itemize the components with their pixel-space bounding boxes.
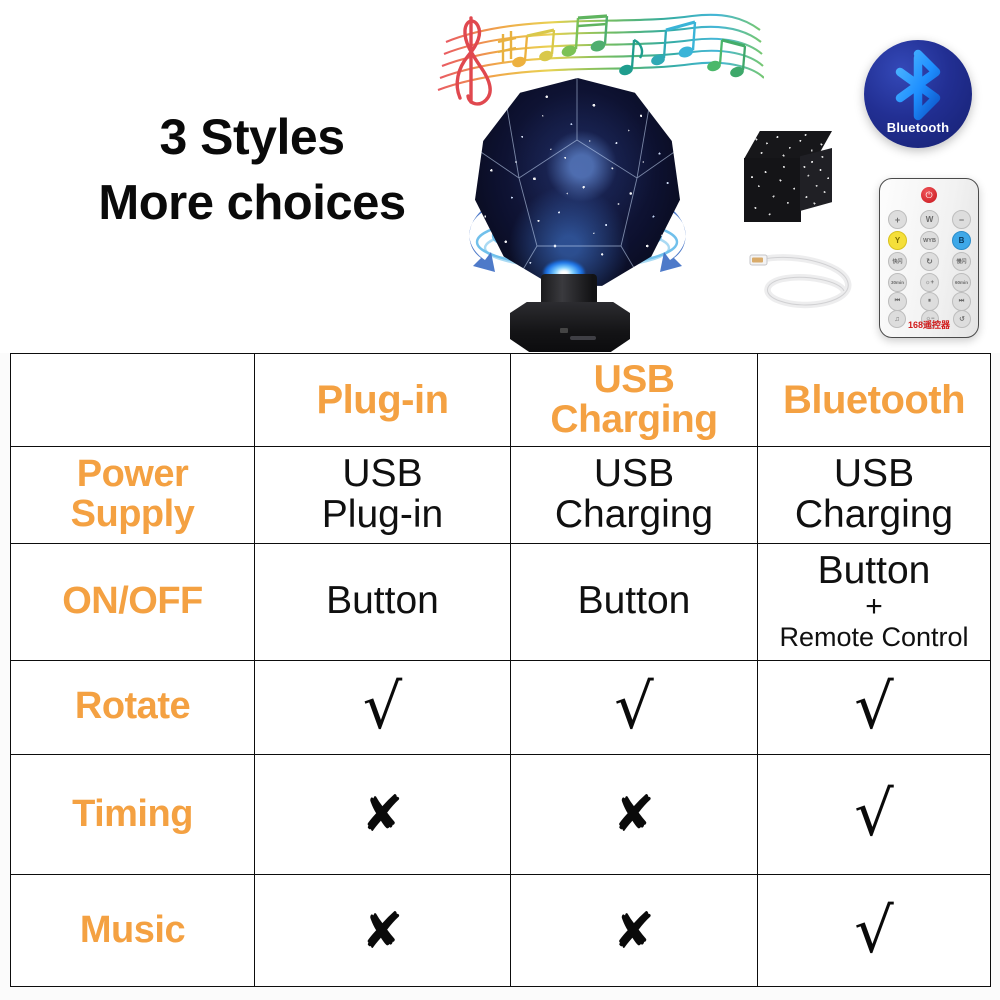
usb-cable-icon xyxy=(748,243,860,313)
row-label-text: Timing xyxy=(15,795,250,835)
table-row: PowerSupplyUSBPlug-inUSBChargingUSBCharg… xyxy=(11,447,991,543)
cell-text: USBCharging xyxy=(515,454,753,536)
row-label-music: Music xyxy=(11,875,255,987)
remote-btn-bright-up: ☼+ xyxy=(920,273,939,292)
cell-text: Button xyxy=(515,581,753,622)
row-label-timing: Timing xyxy=(11,754,255,875)
column-header-label: Plug-in xyxy=(259,380,506,421)
remote-btn-play-pause: ⏸ xyxy=(920,292,939,311)
remote-control-icon: ⏻ + W − Y WYB B 快闪 ↻ 慢闪 30min ☼+ 60min ⏮… xyxy=(879,178,979,338)
headline-line-2: More choices xyxy=(52,171,452,236)
remote-btn-prev: ⏮ xyxy=(888,292,907,311)
table-row: Music✘✘√ xyxy=(11,875,991,987)
cross-mark-icon: ✘ xyxy=(259,789,506,839)
remote-btn-next: ⏭ xyxy=(952,292,971,311)
cell-text: Button xyxy=(259,581,506,622)
table-cell: ✘ xyxy=(255,754,511,875)
header-cell-empty xyxy=(11,354,255,447)
hero-image-area: 3 Styles More choices xyxy=(0,0,1000,353)
table-cell: √ xyxy=(255,660,511,754)
table-cell: USBCharging xyxy=(758,447,991,543)
remote-btn-minus: − xyxy=(952,210,971,229)
check-mark-icon: √ xyxy=(515,676,753,738)
row-label-text: Rotate xyxy=(15,687,250,727)
row-label-rotate: Rotate xyxy=(11,660,255,754)
check-mark-icon: √ xyxy=(259,676,506,738)
column-header-label: USBCharging xyxy=(515,360,753,440)
comparison-table-wrapper: Plug-inUSBChargingBluetoothPowerSupplyUS… xyxy=(10,353,990,987)
box-side xyxy=(800,148,832,211)
remote-model-label: 168遥控器 xyxy=(880,318,978,331)
dodecahedron-shade xyxy=(475,78,680,288)
cross-mark-icon: ✘ xyxy=(515,789,753,839)
table-row: Timing✘✘√ xyxy=(11,754,991,875)
table-cell: Button xyxy=(255,543,511,660)
check-mark-icon: √ xyxy=(762,676,986,738)
remote-btn-w: W xyxy=(920,210,939,229)
table-row: Rotate√√√ xyxy=(11,660,991,754)
table-cell: √ xyxy=(511,660,758,754)
table-cell: USBCharging xyxy=(511,447,758,543)
row-label-text: ON/OFF xyxy=(15,582,250,622)
usb-port xyxy=(570,336,596,340)
cell-text: USBPlug-in xyxy=(259,454,506,536)
table-row: ON/OFFButtonButtonButton+Remote Control xyxy=(11,543,991,660)
remote-power-button: ⏻ xyxy=(921,187,937,203)
remote-btn-slow-flash: 慢闪 xyxy=(952,252,971,271)
column-header-usb-charging: USBCharging xyxy=(511,354,758,447)
product-comparison-page: 3 Styles More choices xyxy=(0,0,1000,1000)
table-cell: Button+Remote Control xyxy=(758,543,991,660)
gift-box-icon xyxy=(738,131,846,226)
row-label-text: PowerSupply xyxy=(15,455,250,534)
cross-mark-icon: ✘ xyxy=(515,906,753,956)
check-mark-icon: √ xyxy=(762,783,986,845)
comparison-table: Plug-inUSBChargingBluetoothPowerSupplyUS… xyxy=(10,353,991,987)
remote-btn-wyb: WYB xyxy=(920,231,939,250)
table-header-row: Plug-inUSBChargingBluetooth xyxy=(11,354,991,447)
table-cell: ✘ xyxy=(255,875,511,987)
row-label-text: Music xyxy=(15,911,250,951)
remote-btn-plus: + xyxy=(888,210,907,229)
remote-btn-60min: 60min xyxy=(952,273,971,292)
remote-btn-rotate: ↻ xyxy=(920,252,939,271)
row-label-power-supply: PowerSupply xyxy=(11,447,255,543)
table-cell: √ xyxy=(758,660,991,754)
remote-btn-yellow: Y xyxy=(888,231,907,250)
cell-text: Button+Remote Control xyxy=(762,551,986,653)
table-cell: USBPlug-in xyxy=(255,447,511,543)
cell-text: USBCharging xyxy=(762,454,986,536)
table-cell: √ xyxy=(758,754,991,875)
headline: 3 Styles More choices xyxy=(52,104,452,236)
column-header-plug-in: Plug-in xyxy=(255,354,511,447)
row-label-on-off: ON/OFF xyxy=(11,543,255,660)
table-cell: √ xyxy=(758,875,991,987)
cross-mark-icon: ✘ xyxy=(259,906,506,956)
column-header-label: Bluetooth xyxy=(762,380,986,421)
star-projector-icon xyxy=(455,78,700,350)
table-cell: ✘ xyxy=(511,754,758,875)
box-front xyxy=(744,158,801,222)
remote-btn-blue: B xyxy=(952,231,971,250)
table-cell: ✘ xyxy=(511,875,758,987)
remote-btn-fast-flash: 快闪 xyxy=(888,252,907,271)
bluetooth-badge-label: Bluetooth xyxy=(864,120,972,135)
remote-btn-30min: 30min xyxy=(888,273,907,292)
table-cell: Button xyxy=(511,543,758,660)
power-switch xyxy=(560,328,568,333)
facet-edges xyxy=(475,78,680,288)
headline-line-1: 3 Styles xyxy=(52,104,452,171)
bluetooth-badge: Bluetooth xyxy=(864,40,972,148)
column-header-bluetooth: Bluetooth xyxy=(758,354,991,447)
lamp-base xyxy=(510,302,630,352)
check-mark-icon: √ xyxy=(762,900,986,962)
